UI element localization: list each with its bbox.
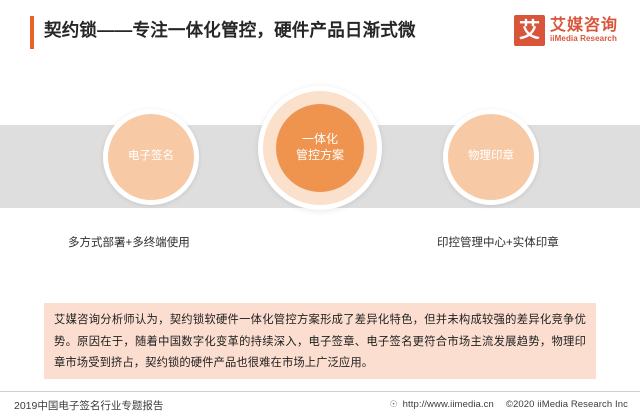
diagram-node-integrated-control: 一体化 管控方案	[276, 104, 364, 192]
footer-report-title: 2019中国电子签名行业专题报告	[14, 398, 163, 413]
logo-text: 艾媒咨询 iiMedia Research	[550, 17, 618, 44]
globe-icon: ☉	[390, 400, 399, 409]
diagram-node-label: 物理印章	[468, 149, 514, 164]
diagram-node-label: 电子签名	[128, 149, 174, 164]
brand-logo: 艾 艾媒咨询 iiMedia Research	[514, 15, 618, 46]
diagram-node-center-label: 一体化 管控方案	[296, 132, 344, 164]
diagram-node-center-label-line1: 一体化	[302, 132, 338, 146]
analyst-callout-box: 艾媒咨询分析师认为，契约锁软硬件一体化管控方案形成了差异化特色，但并未构成较强的…	[44, 303, 596, 379]
diagram-caption-physical-seal: 印控管理中心+实体印章	[437, 234, 559, 250]
footer-url[interactable]: http://www.iimedia.cn	[403, 399, 494, 410]
footer-divider	[0, 391, 640, 392]
logo-mark-icon: 艾	[514, 15, 545, 46]
footer-meta: ☉ http://www.iimedia.cn ©2020 iiMedia Re…	[390, 399, 628, 410]
diagram-node-center-label-line2: 管控方案	[296, 148, 344, 162]
logo-name-cn: 艾媒咨询	[550, 17, 618, 35]
page-header: 契约锁——专注一体化管控，硬件产品日渐式微 艾 艾媒咨询 iiMedia Res…	[0, 0, 640, 62]
footer-copyright: ©2020 iiMedia Research Inc	[506, 399, 628, 410]
diagram-node-electronic-signature: 电子签名	[103, 109, 199, 205]
concept-diagram: 电子签名 一体化 管控方案 物理印章 多方式部署+多终端使用 印控管理中心+实体…	[0, 62, 640, 277]
diagram-node-physical-seal: 物理印章	[443, 109, 539, 205]
page-title: 契约锁——专注一体化管控，硬件产品日渐式微	[44, 17, 416, 42]
diagram-caption-electronic-signature: 多方式部署+多终端使用	[68, 234, 190, 250]
analyst-callout-text: 艾媒咨询分析师认为，契约锁软硬件一体化管控方案形成了差异化特色，但并未构成较强的…	[54, 310, 586, 375]
title-accent-bar	[30, 16, 34, 49]
logo-name-en: iiMedia Research	[550, 35, 618, 44]
